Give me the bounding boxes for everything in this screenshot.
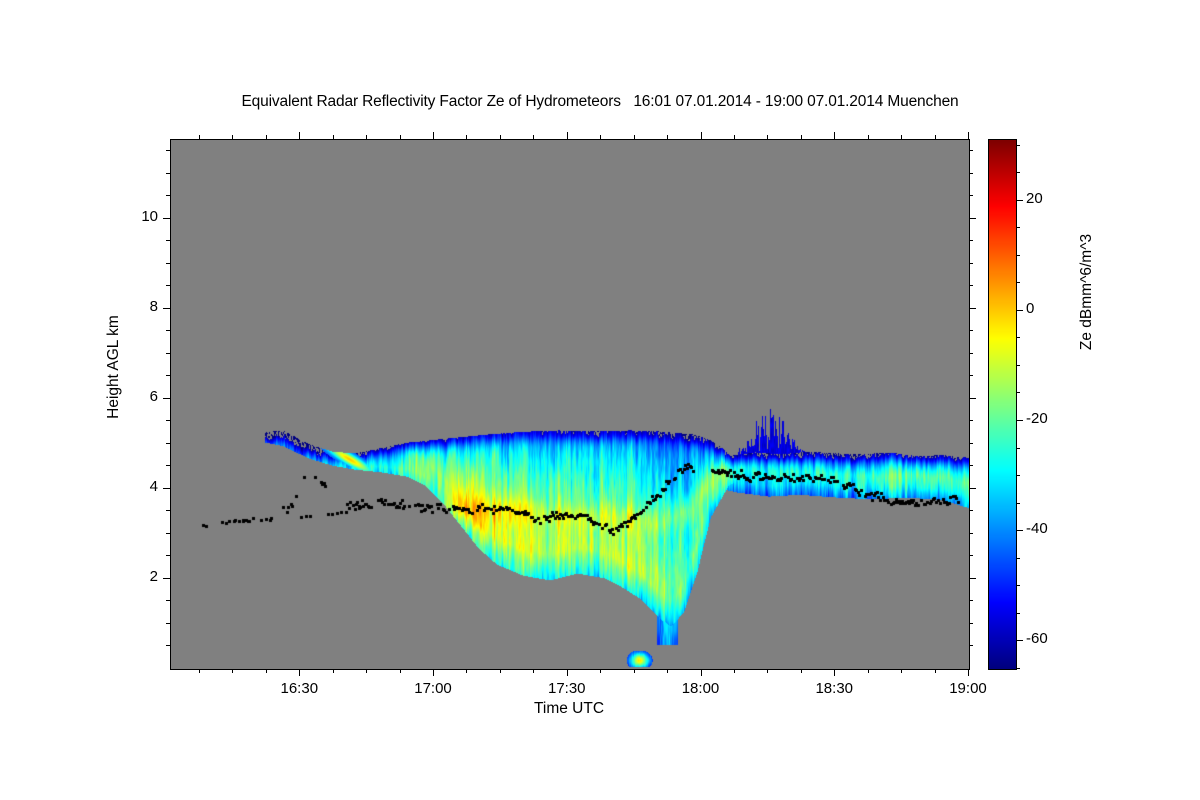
y-tick-major-right-0 [969, 578, 976, 579]
y-tick-label-4: 10 [110, 208, 158, 225]
y-tick-minor-right [969, 420, 973, 421]
colorbar-gradient [989, 140, 1016, 669]
colorbar-tick-minor [1017, 475, 1020, 476]
x-tick-minor-top [767, 135, 768, 139]
x-tick-label-0: 16:30 [259, 680, 339, 697]
colorbar[interactable] [988, 139, 1017, 670]
x-tick-minor-top [500, 135, 501, 139]
colorbar-tick-minor [1017, 558, 1020, 559]
y-tick-minor-right [969, 510, 973, 511]
x-tick-minor [667, 669, 668, 673]
colorbar-tick-minor [1017, 392, 1020, 393]
y-tick-major-right-4 [969, 218, 976, 219]
y-tick-major-right-3 [969, 308, 976, 309]
y-tick-minor-right [969, 645, 973, 646]
x-tick-minor [600, 669, 601, 673]
y-tick-minor-right [969, 375, 973, 376]
colorbar-tick-1 [1017, 310, 1023, 311]
x-tick-minor-top [366, 135, 367, 139]
x-tick-minor [199, 669, 200, 673]
colorbar-tick-4 [1017, 640, 1023, 641]
x-tick-minor [767, 669, 768, 673]
y-tick-minor [166, 240, 170, 241]
y-tick-minor [166, 600, 170, 601]
x-tick-major-4 [834, 669, 835, 676]
y-tick-major-0 [163, 578, 170, 579]
y-tick-minor-right [969, 600, 973, 601]
y-tick-minor [166, 645, 170, 646]
y-tick-minor-right [969, 150, 973, 151]
x-tick-major-top-3 [701, 132, 702, 139]
colorbar-tick-3 [1017, 530, 1023, 531]
x-tick-major-top-5 [968, 132, 969, 139]
y-tick-minor-right [969, 263, 973, 264]
colorbar-tick-minor [1017, 227, 1020, 228]
y-tick-minor [166, 263, 170, 264]
x-tick-label-4: 18:30 [794, 680, 874, 697]
y-tick-minor-right [969, 465, 973, 466]
colorbar-tick-minor [1017, 172, 1020, 173]
y-tick-minor-right [969, 353, 973, 354]
x-tick-major-0 [299, 669, 300, 676]
y-axis-label: Height AGL km [105, 247, 123, 487]
y-tick-major-2 [163, 398, 170, 399]
y-tick-minor-right [969, 330, 973, 331]
radar-reflectivity-figure: Equivalent Radar Reflectivity Factor Ze … [0, 0, 1200, 800]
x-tick-minor [935, 669, 936, 673]
x-tick-minor-top [801, 135, 802, 139]
y-tick-major-right-2 [969, 398, 976, 399]
y-tick-minor-right [969, 623, 973, 624]
y-tick-minor-right [969, 285, 973, 286]
colorbar-tick-minor [1017, 255, 1020, 256]
y-tick-major-1 [163, 488, 170, 489]
y-tick-major-4 [163, 218, 170, 219]
colorbar-tick-minor [1017, 282, 1020, 283]
x-tick-major-1 [433, 669, 434, 676]
x-tick-minor [734, 669, 735, 673]
x-tick-minor [901, 669, 902, 673]
x-tick-minor-top [400, 135, 401, 139]
x-tick-minor [366, 669, 367, 673]
y-tick-minor [166, 623, 170, 624]
colorbar-tick-2 [1017, 420, 1023, 421]
y-tick-minor [166, 465, 170, 466]
colorbar-tick-label-0: 20 [1026, 190, 1086, 207]
x-tick-major-2 [567, 669, 568, 676]
x-tick-major-top-1 [433, 132, 434, 139]
colorbar-tick-0 [1017, 200, 1023, 201]
x-tick-minor-top [901, 135, 902, 139]
y-tick-minor [166, 285, 170, 286]
x-tick-minor [466, 669, 467, 673]
y-tick-minor [166, 533, 170, 534]
x-tick-minor [634, 669, 635, 673]
x-tick-major-5 [968, 669, 969, 676]
x-tick-minor [533, 669, 534, 673]
y-tick-minor [166, 443, 170, 444]
y-tick-major-3 [163, 308, 170, 309]
x-axis-label: Time UTC [170, 700, 968, 718]
x-tick-minor-top [533, 135, 534, 139]
x-tick-minor [801, 669, 802, 673]
x-tick-minor-top [266, 135, 267, 139]
x-tick-minor-top [734, 135, 735, 139]
colorbar-tick-minor [1017, 503, 1020, 504]
x-tick-minor-top [333, 135, 334, 139]
colorbar-tick-label-4: -60 [1026, 630, 1086, 647]
y-tick-minor [166, 375, 170, 376]
y-tick-label-2: 6 [110, 388, 158, 405]
x-tick-minor [333, 669, 334, 673]
colorbar-tick-minor [1017, 145, 1020, 146]
y-tick-minor [166, 420, 170, 421]
y-tick-minor-right [969, 240, 973, 241]
x-tick-minor-top [868, 135, 869, 139]
x-tick-label-5: 19:00 [928, 680, 1008, 697]
reflectivity-heatmap-canvas [171, 140, 969, 669]
chart-title: Equivalent Radar Reflectivity Factor Ze … [0, 93, 1200, 111]
x-tick-minor-top [232, 135, 233, 139]
x-tick-minor [500, 669, 501, 673]
colorbar-tick-minor [1017, 448, 1020, 449]
y-tick-label-1: 4 [110, 478, 158, 495]
x-tick-minor [868, 669, 869, 673]
x-tick-major-3 [701, 669, 702, 676]
y-tick-minor-right [969, 533, 973, 534]
x-tick-major-top-2 [567, 132, 568, 139]
colorbar-tick-label-1: 0 [1026, 300, 1086, 317]
x-tick-minor [400, 669, 401, 673]
x-tick-minor [266, 669, 267, 673]
y-tick-minor [166, 173, 170, 174]
y-tick-minor-right [969, 195, 973, 196]
x-tick-label-2: 17:30 [527, 680, 607, 697]
x-tick-minor-top [667, 135, 668, 139]
y-tick-minor-right [969, 555, 973, 556]
x-tick-minor-top [634, 135, 635, 139]
x-tick-major-top-0 [299, 132, 300, 139]
colorbar-tick-label-3: -40 [1026, 520, 1086, 537]
x-tick-minor-top [935, 135, 936, 139]
y-tick-minor [166, 150, 170, 151]
y-tick-minor [166, 195, 170, 196]
y-tick-minor [166, 330, 170, 331]
y-tick-label-3: 8 [110, 298, 158, 315]
colorbar-tick-minor [1017, 613, 1020, 614]
x-tick-minor-top [466, 135, 467, 139]
colorbar-tick-label-2: -20 [1026, 410, 1086, 427]
x-tick-major-top-4 [834, 132, 835, 139]
plot-area[interactable] [170, 139, 970, 670]
x-tick-minor-top [199, 135, 200, 139]
colorbar-tick-minor [1017, 337, 1020, 338]
x-tick-minor-top [600, 135, 601, 139]
colorbar-tick-minor [1017, 668, 1020, 669]
y-tick-minor-right [969, 443, 973, 444]
x-tick-minor [232, 669, 233, 673]
y-tick-minor [166, 555, 170, 556]
y-tick-minor-right [969, 173, 973, 174]
colorbar-tick-minor [1017, 585, 1020, 586]
x-tick-label-3: 18:00 [661, 680, 741, 697]
y-tick-label-0: 2 [110, 568, 158, 585]
colorbar-tick-minor [1017, 365, 1020, 366]
x-tick-label-1: 17:00 [393, 680, 473, 697]
y-tick-minor [166, 353, 170, 354]
y-tick-minor [166, 510, 170, 511]
y-tick-major-right-1 [969, 488, 976, 489]
